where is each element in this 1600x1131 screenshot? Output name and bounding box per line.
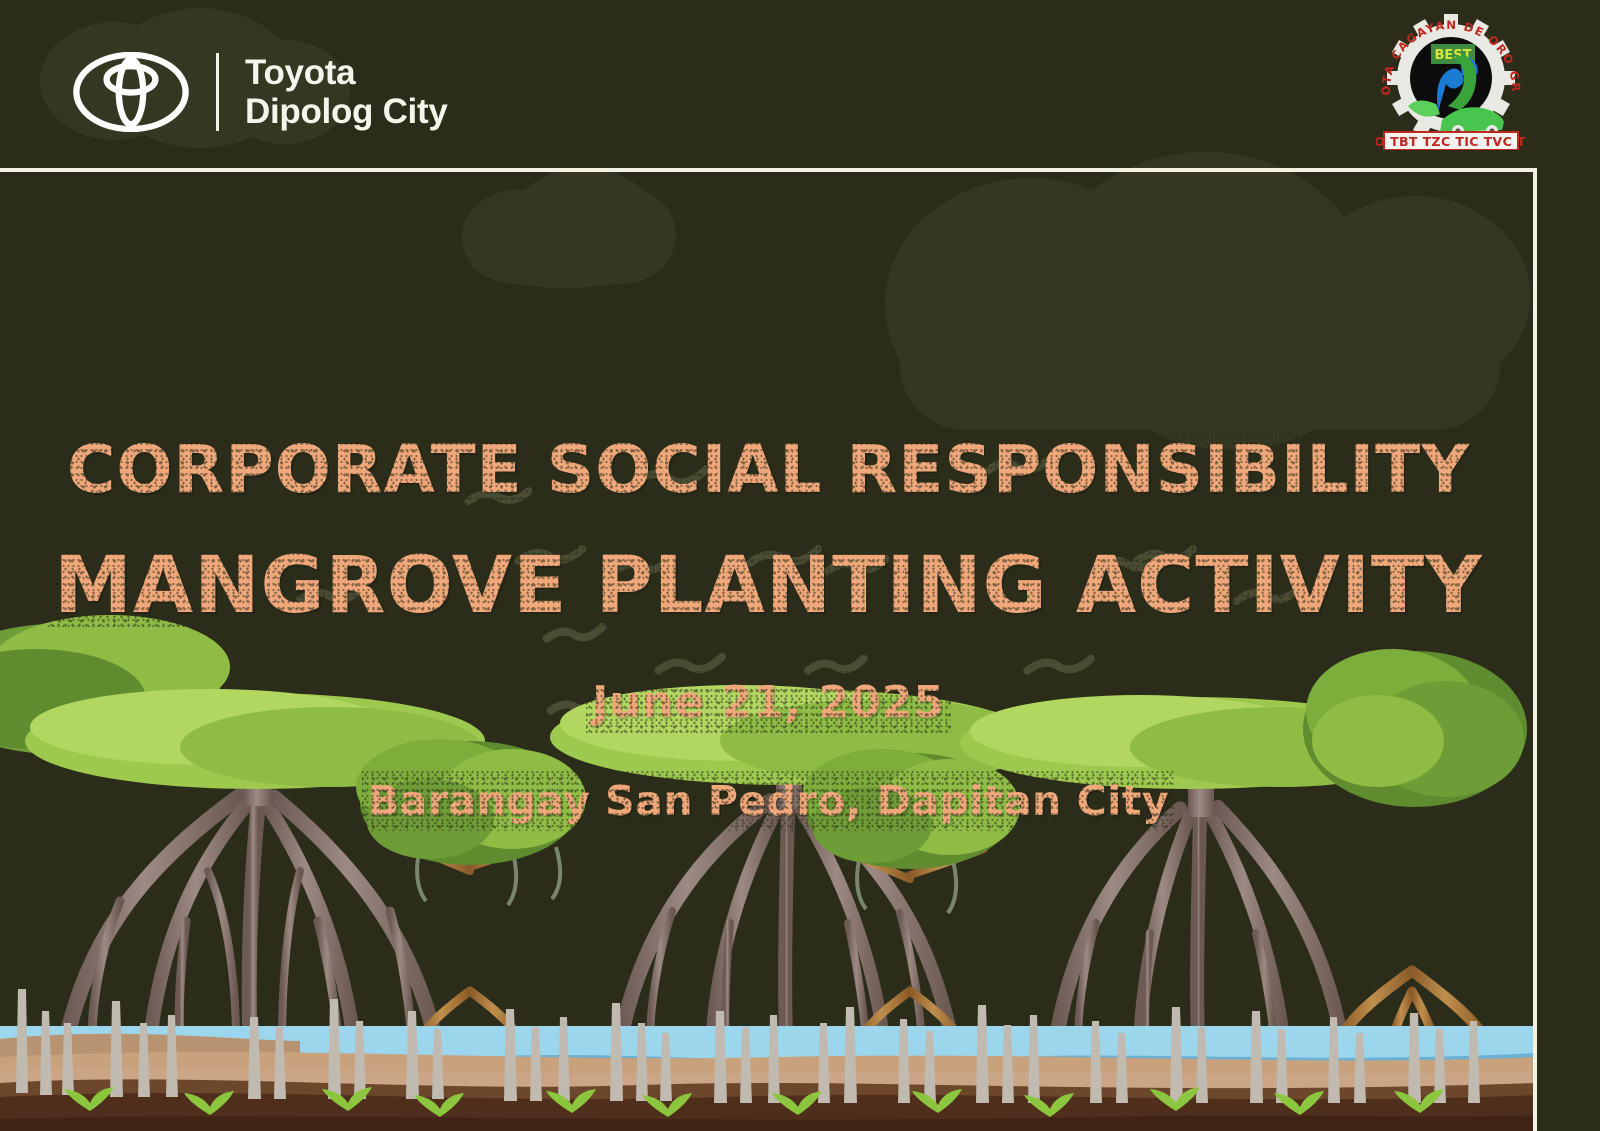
canopy	[1303, 649, 1527, 807]
bird-icon	[634, 469, 706, 483]
brand-name: Toyota Dipolog City	[245, 53, 448, 131]
bird-icon	[519, 549, 583, 561]
slide-header: Toyota Dipolog City	[0, 0, 1600, 168]
bird-icon	[469, 491, 529, 501]
mangrove-illustration	[0, 571, 1533, 1131]
brand-divider	[216, 53, 219, 131]
toyota-brand-lockup: Toyota Dipolog City	[72, 52, 448, 132]
group-logo-banner-text: TCO TBT TZC TIC TVC TDP	[1376, 134, 1526, 149]
bird-icon	[987, 459, 1049, 471]
canopy	[356, 739, 586, 865]
tree-mid-small-a	[356, 739, 586, 1043]
presentation-slide: Toyota Dipolog City	[0, 0, 1600, 1131]
bird-icon	[614, 559, 670, 571]
content-frame: CORPORATE SOCIAL RESPONSIBILITY MANGROVE…	[0, 168, 1537, 1131]
bird-icon	[1137, 549, 1193, 561]
tree-right-tall	[1303, 649, 1527, 1041]
bird-icon	[1097, 557, 1161, 569]
group-logo-banner: TCO TBT TZC TIC TVC TDP	[1376, 132, 1526, 150]
bird-icon	[828, 559, 886, 571]
tree-mid-small-b	[802, 749, 1020, 1043]
water-and-ground	[0, 1026, 1533, 1131]
toyota-cagayan-de-oro-group-logo: BEST TOYOTA CAGAYAN DE ORO GROUP TCO TBT…	[1376, 8, 1526, 150]
bird-icon	[750, 549, 818, 563]
brand-line-2: Dipolog City	[245, 92, 448, 131]
brand-line-1: Toyota	[245, 53, 448, 92]
toyota-emblem-icon	[72, 52, 190, 132]
